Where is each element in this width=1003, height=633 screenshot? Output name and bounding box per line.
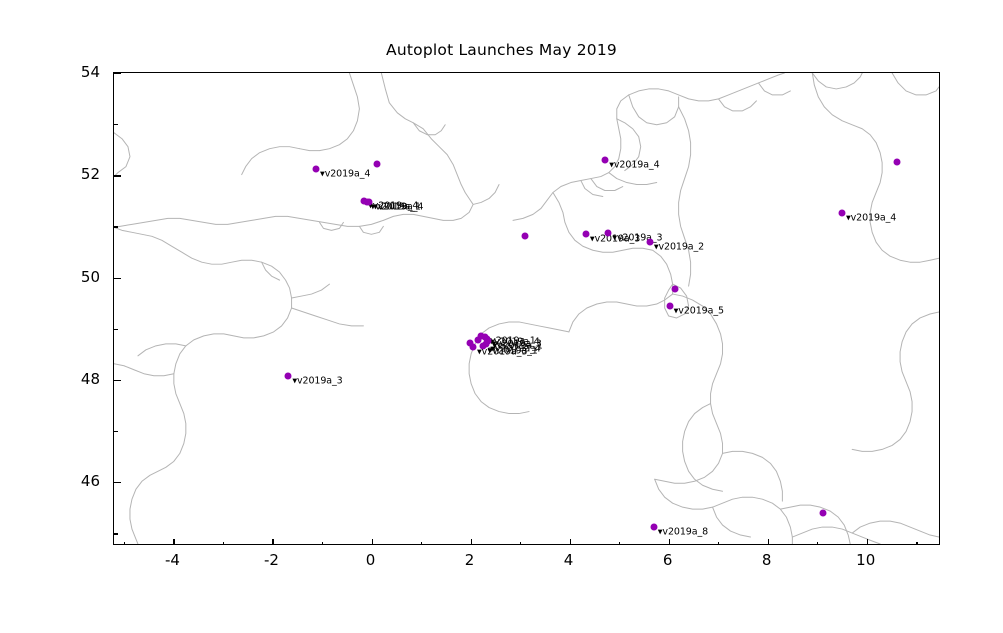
data-point xyxy=(838,209,845,216)
y-tick xyxy=(114,482,121,483)
x-minor-tick xyxy=(124,542,125,545)
data-point-label: ▾v2019a_3 xyxy=(292,375,342,386)
x-tick xyxy=(372,539,373,545)
x-tick xyxy=(768,539,769,545)
y-minor-tick xyxy=(114,329,118,330)
data-point xyxy=(366,199,373,206)
data-point-label: ▾v2019a_3 xyxy=(477,347,527,358)
y-tick-label: 46 xyxy=(66,472,100,490)
chart-title: Autoplot Launches May 2019 xyxy=(0,41,1003,59)
x-tick xyxy=(471,539,472,545)
map-axes: ▾v2019a_4▾v2019a_4▾v2019a_1▾v2019a_4▾v20… xyxy=(113,72,940,545)
data-point xyxy=(671,285,678,292)
data-point-label: ▾v2019a_8 xyxy=(658,527,708,538)
data-point xyxy=(605,229,612,236)
data-point xyxy=(582,231,589,238)
data-point-label: ▾v2019a_5 xyxy=(674,305,724,316)
y-tick xyxy=(114,380,121,381)
x-minor-tick xyxy=(916,542,917,545)
x-tick-label: -4 xyxy=(165,551,180,569)
data-point-label: ▾v2019a_4 xyxy=(846,212,896,223)
data-point xyxy=(650,524,657,531)
x-minor-tick xyxy=(322,542,323,545)
x-minor-tick xyxy=(817,542,818,545)
y-tick xyxy=(114,73,121,74)
x-tick xyxy=(173,539,174,545)
x-minor-tick xyxy=(718,542,719,545)
x-tick xyxy=(867,539,868,545)
data-point xyxy=(602,156,609,163)
figure: Autoplot Launches May 2019 xyxy=(0,0,1003,633)
y-minor-tick xyxy=(114,226,118,227)
data-point xyxy=(374,161,381,168)
y-minor-tick xyxy=(114,431,118,432)
y-tick-label: 54 xyxy=(66,63,100,81)
data-point xyxy=(666,302,673,309)
x-tick-label: 4 xyxy=(564,551,574,569)
x-minor-tick xyxy=(619,542,620,545)
x-tick-label: 2 xyxy=(465,551,475,569)
data-point-label: ▾v2019a_4 xyxy=(609,159,659,170)
x-minor-tick xyxy=(223,542,224,545)
x-minor-tick xyxy=(421,542,422,545)
x-tick-label: 10 xyxy=(856,551,875,569)
y-tick xyxy=(114,278,121,279)
y-minor-tick xyxy=(114,124,118,125)
data-point-label: ▾v2019a_4 xyxy=(373,202,423,213)
data-point-label: ▾v2019a_2 xyxy=(654,241,704,252)
data-point xyxy=(820,509,827,516)
scatter-data-layer: ▾v2019a_4▾v2019a_4▾v2019a_1▾v2019a_4▾v20… xyxy=(114,73,939,544)
x-tick xyxy=(669,539,670,545)
x-tick-label: -2 xyxy=(264,551,279,569)
x-tick-label: 6 xyxy=(663,551,673,569)
y-tick-label: 48 xyxy=(66,370,100,388)
y-minor-tick xyxy=(114,533,118,534)
data-point xyxy=(894,159,901,166)
y-tick-label: 50 xyxy=(66,268,100,286)
data-point xyxy=(646,238,653,245)
data-point xyxy=(522,232,529,239)
data-point xyxy=(313,166,320,173)
x-tick xyxy=(570,539,571,545)
y-tick-label: 52 xyxy=(66,165,100,183)
data-point xyxy=(285,372,292,379)
x-tick-label: 0 xyxy=(366,551,376,569)
data-point xyxy=(470,344,477,351)
x-tick xyxy=(272,539,273,545)
x-minor-tick xyxy=(520,542,521,545)
x-tick-label: 8 xyxy=(762,551,772,569)
data-point-label: ▾v2019a_4 xyxy=(320,169,370,180)
y-tick xyxy=(114,175,121,176)
